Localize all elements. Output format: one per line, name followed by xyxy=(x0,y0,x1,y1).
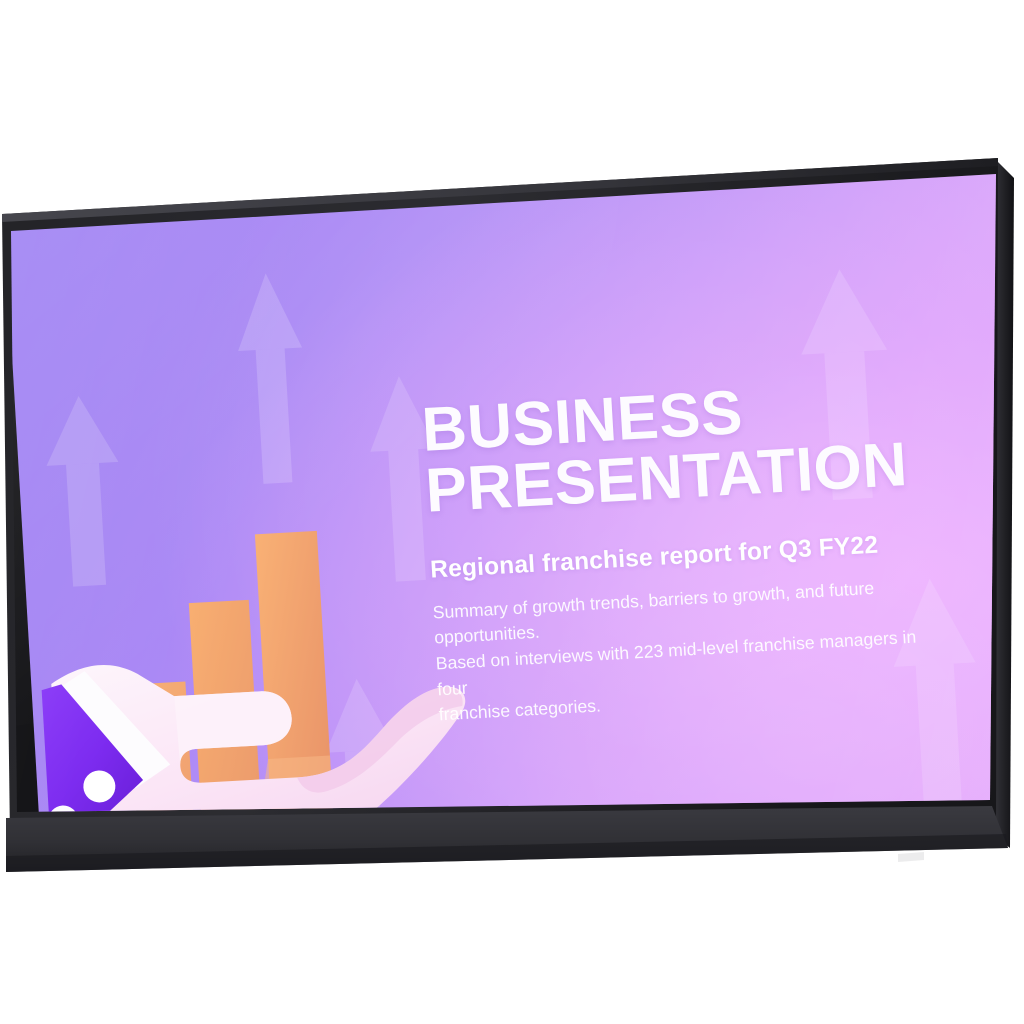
page-title: BUSINESS PRESENTATION xyxy=(420,372,946,522)
slide-body-text: Summary of growth trends, barriers to gr… xyxy=(432,572,949,729)
monitor-foot-nub xyxy=(898,852,924,862)
arrow-head xyxy=(234,272,302,351)
slide-text-block: BUSINESS PRESENTATION Regional franchise… xyxy=(420,372,958,728)
arrow-head xyxy=(796,267,887,355)
screenshot-root: BUSINESS PRESENTATION Regional franchise… xyxy=(0,0,1024,1024)
